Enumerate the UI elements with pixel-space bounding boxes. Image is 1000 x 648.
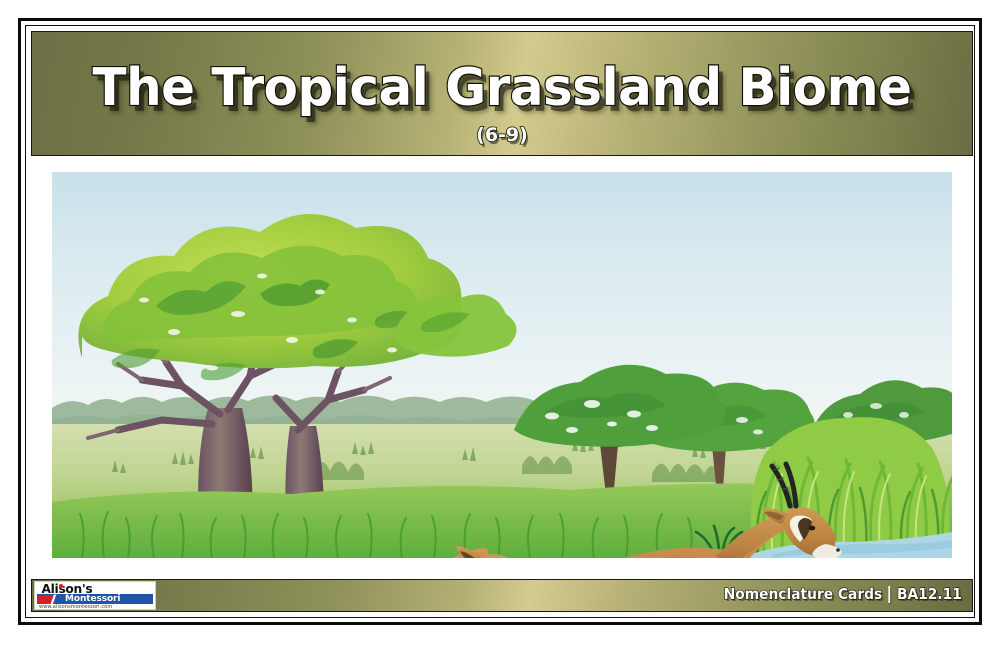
footer-separator-icon xyxy=(889,586,891,603)
age-range-label: (6-9) xyxy=(32,124,972,146)
logo-swoosh-icon xyxy=(37,594,63,604)
nomenclature-card: The Tropical Grassland Biome (6-9) xyxy=(18,18,982,625)
title-banner: The Tropical Grassland Biome (6-9) xyxy=(31,31,973,156)
card-inner-frame: The Tropical Grassland Biome (6-9) xyxy=(25,25,975,618)
page-title: The Tropical Grassland Biome xyxy=(51,60,953,116)
brand-subtitle: Montessori xyxy=(65,594,120,604)
savanna-scene-svg xyxy=(52,172,952,558)
footer-meta: Nomenclature Cards BA12.11 xyxy=(724,585,962,604)
series-label: Nomenclature Cards xyxy=(724,585,883,604)
biome-illustration xyxy=(52,172,952,558)
logo-red-dot-icon xyxy=(59,584,63,588)
brand-logo-bottom-row: Montessori xyxy=(37,594,153,604)
brand-logo[interactable]: Alison's Montessori www.alisonsmontessor… xyxy=(34,581,156,610)
card-code: BA12.11 xyxy=(897,585,962,604)
footer-bar: Alison's Montessori www.alisonsmontessor… xyxy=(31,579,973,612)
brand-website-url[interactable]: www.alisonsmontessori.com xyxy=(39,604,153,610)
